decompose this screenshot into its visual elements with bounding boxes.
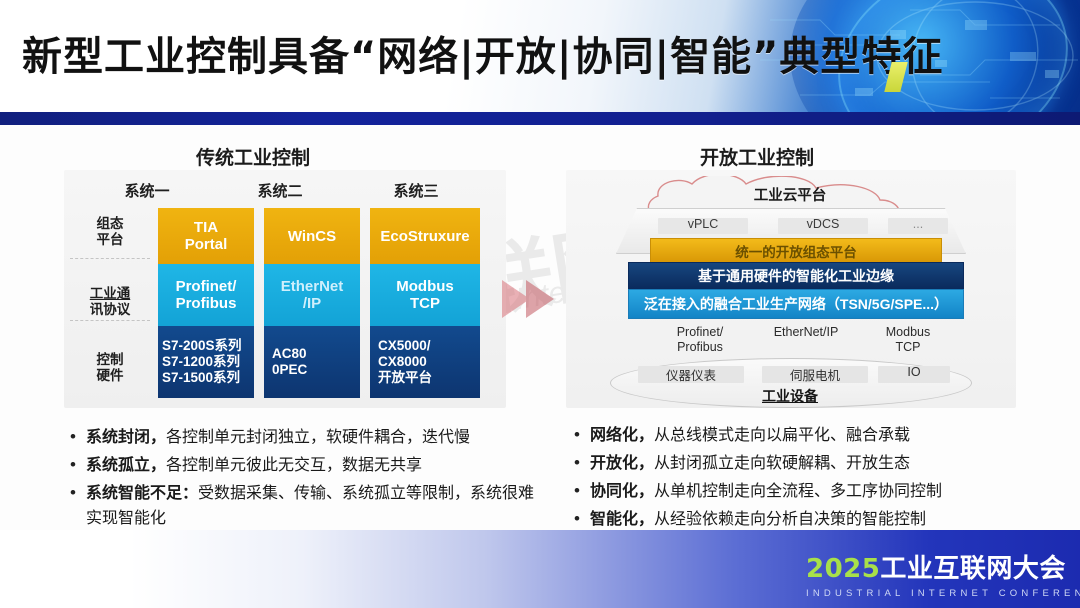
cell-hardware-sys3-l1: CX5000/ — [378, 338, 431, 354]
list-item: • 协同化，从单机控制走向全流程、多工序协同控制 — [574, 478, 1044, 504]
cell-hardware-sys2-l2: 0PEC — [272, 362, 307, 378]
converged-production-network-bar: 泛在接入的融合工业生产网络（TSN/5G/SPE...） — [628, 289, 964, 319]
row-label-platform: 组态 平台 — [68, 216, 152, 248]
protocol-label-2: EtherNet/IP — [750, 325, 862, 340]
vplc-label: vPLC — [658, 217, 748, 231]
cell-protocol-sys2-l1: EtherNet — [281, 278, 344, 295]
list-item: • 网络化，从总线模式走向以扁平化、融合承载 — [574, 422, 1044, 448]
traditional-control-diagram: 系统一 系统二 系统三 组态 平台 工业通 讯协议 控制 硬件 TIA Port… — [64, 170, 506, 408]
bullet-text: 网络化，从总线模式走向以扁平化、融合承载 — [590, 422, 910, 447]
cell-platform-sys3-l1: EcoStruxure — [380, 228, 469, 245]
bullet-lead: 开放化， — [590, 453, 654, 472]
row-label-platform-l2: 平台 — [68, 232, 152, 248]
logo-year: 2025 — [806, 554, 880, 584]
double-chevron-right-icon — [500, 276, 572, 322]
cell-hardware-sys3: CX5000/ CX8000 开放平台 — [370, 326, 480, 398]
cell-hardware-sys1-l2: S7-1200系列 — [162, 354, 240, 370]
bullet-lead: 智能化， — [590, 509, 654, 528]
protocol-label-3-l1: Modbus — [862, 325, 954, 340]
cell-protocol-sys1-l2: Profibus — [176, 295, 237, 312]
logo-subtitle: INDUSTRIAL INTERNET CONFERENCE — [806, 588, 1056, 599]
cell-protocol-sys2: EtherNet /IP — [264, 264, 360, 326]
cell-protocol-sys2-l2: /IP — [303, 295, 321, 312]
bullet-lead: 系统封闭， — [86, 427, 166, 446]
cloud-platform-label: 工业云平台 — [640, 184, 940, 205]
bullet-text: 系统封闭，各控制单元封闭独立，软硬件耦合，迭代慢 — [86, 424, 470, 449]
bullet-dot-icon: • — [574, 450, 590, 476]
row-label-protocol-l2: 讯协议 — [68, 302, 152, 318]
cell-hardware-sys2: AC80 0PEC — [264, 326, 360, 398]
bullet-rest: 从单机控制走向全流程、多工序协同控制 — [654, 481, 942, 500]
cell-hardware-sys1-l1: S7-200S系列 — [162, 338, 242, 354]
column-header-2: 系统二 — [224, 180, 336, 201]
cell-platform-sys3: EcoStruxure — [370, 208, 480, 264]
bullet-rest: 各控制单元封闭独立，软硬件耦合，迭代慢 — [166, 427, 470, 446]
row-separator-2 — [70, 320, 150, 321]
row-label-hardware: 控制 硬件 — [68, 352, 152, 384]
bullet-text: 智能化，从经验依赖走向分析自决策的智能控制 — [590, 506, 926, 531]
device-label-3: IO — [878, 365, 950, 379]
page-title: 新型工业控制具备“网络|开放|协同|智能”典型特征 — [22, 26, 1032, 88]
cell-platform-sys1: TIA Portal — [158, 208, 254, 264]
bullet-dot-icon: • — [574, 422, 590, 448]
logo-main-line: 2025工业互联网大会 — [806, 548, 1056, 585]
cell-hardware-sys3-l3: 开放平台 — [378, 370, 432, 386]
cell-protocol-sys3: Modbus TCP — [370, 264, 480, 326]
logo-cn: 工业互联网大会 — [880, 554, 1066, 584]
right-section-title: 开放工业控制 — [700, 143, 814, 170]
list-item: • 系统智能不足：受数据采集、传输、系统孤立等限制，系统很难实现智能化 — [70, 480, 540, 530]
cell-hardware-sys3-l2: CX8000 — [378, 354, 427, 370]
bullet-text: 协同化，从单机控制走向全流程、多工序协同控制 — [590, 478, 942, 503]
bullet-lead: 协同化， — [590, 481, 654, 500]
bullet-dot-icon: • — [574, 506, 590, 532]
more-label: ... — [888, 217, 948, 231]
vdcs-label: vDCS — [778, 217, 868, 231]
list-item: • 开放化，从封闭孤立走向软硬解耦、开放生态 — [574, 450, 1044, 476]
device-label-2: 伺服电机 — [762, 365, 868, 384]
bullet-text: 开放化，从封闭孤立走向软硬解耦、开放生态 — [590, 450, 910, 475]
cell-protocol-sys3-l1: Modbus — [396, 278, 454, 295]
left-bullet-list: • 系统封闭，各控制单元封闭独立，软硬件耦合，迭代慢 • 系统孤立，各控制单元彼… — [70, 424, 540, 532]
row-separator-1 — [70, 258, 150, 259]
row-label-protocol: 工业通 讯协议 — [68, 286, 152, 318]
header-blue-band — [0, 112, 1080, 125]
bullet-lead: 系统智能不足： — [86, 483, 198, 502]
bullet-rest: 各控制单元彼此无交互，数据无共享 — [166, 455, 422, 474]
bullet-lead: 系统孤立， — [86, 455, 166, 474]
right-bullet-list: • 网络化，从总线模式走向以扁平化、融合承载 • 开放化，从封闭孤立走向软硬解耦… — [574, 422, 1044, 534]
cell-protocol-sys1-l1: Profinet/ — [176, 278, 237, 295]
bullet-rest: 从封闭孤立走向软硬解耦、开放生态 — [654, 453, 910, 472]
cell-hardware-sys2-l1: AC80 — [272, 346, 307, 362]
conference-logo: 2025工业互联网大会 INDUSTRIAL INTERNET CONFEREN… — [806, 548, 1056, 599]
left-section-title: 传统工业控制 — [196, 143, 310, 170]
protocol-label-1-l1: Profinet/ — [652, 325, 748, 340]
bullet-text: 系统智能不足：受数据采集、传输、系统孤立等限制，系统很难实现智能化 — [86, 480, 540, 530]
unified-open-config-platform-bar: 统一的开放组态平台 — [650, 238, 942, 263]
bullet-dot-icon: • — [574, 478, 590, 504]
cell-hardware-sys1-l3: S7-1500系列 — [162, 370, 240, 386]
bullet-dot-icon: • — [70, 452, 86, 478]
row-label-platform-l1: 组态 — [68, 216, 152, 232]
row-label-hardware-l2: 硬件 — [68, 368, 152, 384]
cell-platform-sys2-l1: WinCS — [288, 228, 336, 245]
intelligent-industrial-edge-bar: 基于通用硬件的智能化工业边缘 — [628, 262, 964, 290]
cell-platform-sys1-l2: Portal — [185, 236, 228, 253]
list-item: • 系统孤立，各控制单元彼此无交互，数据无共享 — [70, 452, 540, 478]
protocol-label-2-l1: EtherNet/IP — [750, 325, 862, 340]
protocol-label-3: Modbus TCP — [862, 325, 954, 355]
list-item: • 智能化，从经验依赖走向分析自决策的智能控制 — [574, 506, 1044, 532]
slide: 新型工业控制具备“网络|开放|协同|智能”典型特征 工业互联网联盟 Allian… — [0, 0, 1080, 608]
row-label-hardware-l1: 控制 — [68, 352, 152, 368]
cell-protocol-sys1: Profinet/ Profibus — [158, 264, 254, 326]
cell-platform-sys2: WinCS — [264, 208, 360, 264]
industrial-device-label: 工业设备 — [610, 386, 970, 406]
bullet-rest: 从经验依赖走向分析自决策的智能控制 — [654, 509, 926, 528]
bullet-dot-icon: • — [70, 480, 86, 506]
cell-protocol-sys3-l2: TCP — [410, 295, 440, 312]
open-control-diagram: 工业云平台 vPLC vDCS ... 统一的开放组态平台 基于通用硬件的智能化… — [566, 170, 1016, 408]
bullet-dot-icon: • — [70, 424, 86, 450]
cell-platform-sys1-l1: TIA — [194, 219, 218, 236]
device-label-1: 仪器仪表 — [638, 365, 744, 384]
protocol-label-1: Profinet/ Profibus — [652, 325, 748, 355]
list-item: • 系统封闭，各控制单元封闭独立，软硬件耦合，迭代慢 — [70, 424, 540, 450]
row-label-protocol-l1: 工业通 — [68, 286, 152, 302]
column-header-1: 系统一 — [86, 180, 208, 201]
cell-hardware-sys1: S7-200S系列 S7-1200系列 S7-1500系列 — [158, 326, 254, 398]
protocol-label-3-l2: TCP — [862, 340, 954, 355]
bullet-lead: 网络化， — [590, 425, 654, 444]
protocol-label-1-l2: Profibus — [652, 340, 748, 355]
column-header-3: 系统三 — [352, 180, 480, 201]
bullet-rest: 从总线模式走向以扁平化、融合承载 — [654, 425, 910, 444]
slide-header: 新型工业控制具备“网络|开放|协同|智能”典型特征 — [0, 0, 1080, 112]
bullet-text: 系统孤立，各控制单元彼此无交互，数据无共享 — [86, 452, 422, 477]
